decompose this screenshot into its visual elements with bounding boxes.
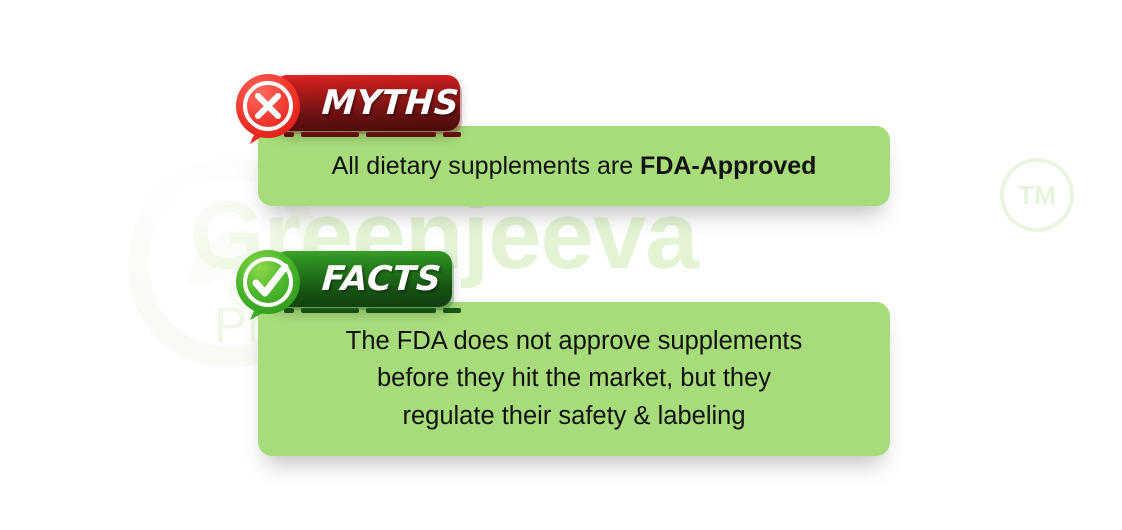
x-circle-icon	[232, 72, 304, 144]
facts-badge-label: FACTS	[321, 262, 443, 296]
myths-text-bold: FDA-Approved	[640, 152, 816, 180]
facts-text-line: The FDA does not approve supplements	[346, 323, 802, 360]
check-circle-icon	[232, 248, 304, 320]
facts-text-line: before they hit the market, but they	[346, 360, 802, 397]
myths-badge-dashes	[284, 132, 462, 137]
background-glow-right	[880, 250, 1122, 510]
facts-badge-dashes	[284, 308, 462, 313]
myths-badge-label: MYTHS	[321, 86, 460, 120]
facts-panel: The FDA does not approve supplements bef…	[258, 302, 890, 456]
myths-text: All dietary supplements are FDA-Approved	[310, 149, 839, 184]
myths-text-plain: All dietary supplements are	[332, 152, 640, 180]
facts-text: The FDA does not approve supplements bef…	[324, 323, 824, 435]
facts-text-line: regulate their safety & labeling	[346, 398, 802, 435]
myths-panel: All dietary supplements are FDA-Approved	[258, 126, 890, 206]
trademark-icon: TM	[1000, 158, 1074, 232]
